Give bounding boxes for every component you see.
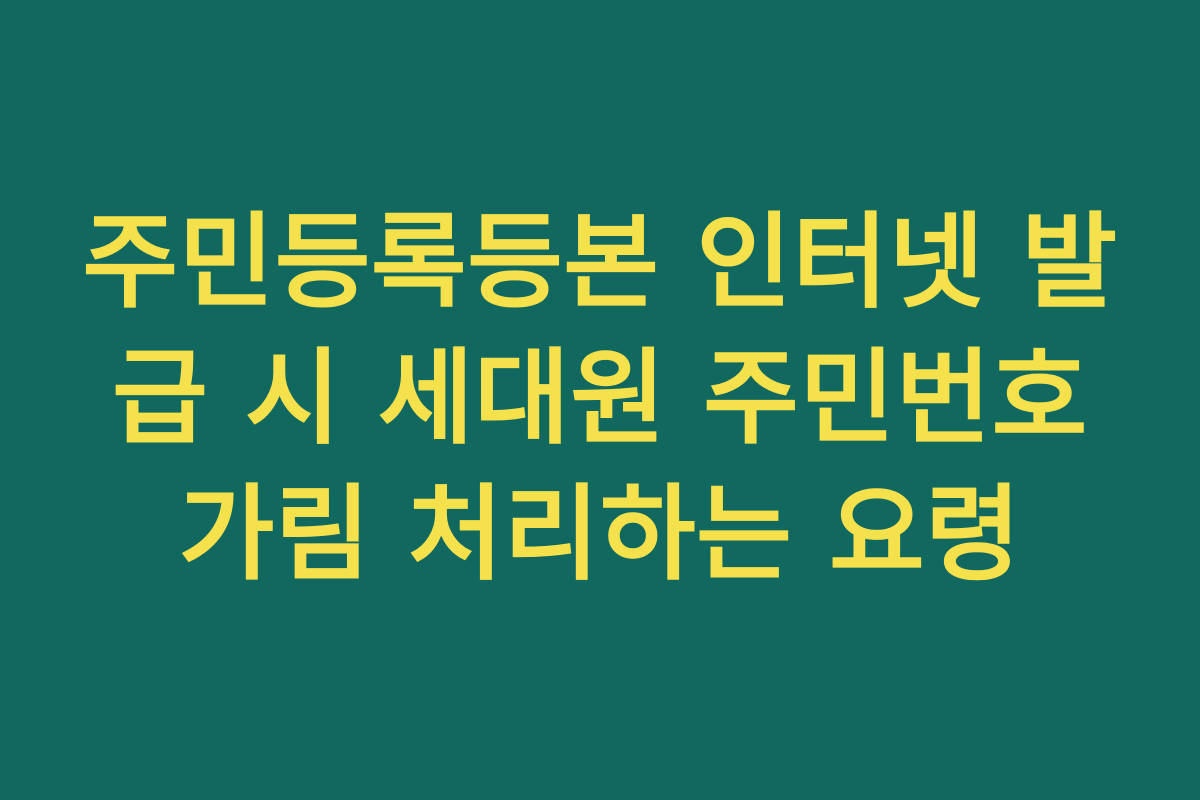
title-line-2: 급 시 세대원 주민번호 [112,330,1088,466]
title-line-1: 주민등록등본 인터넷 발 [82,194,1117,330]
thumbnail-card: 주민등록등본 인터넷 발 급 시 세대원 주민번호 가림 처리하는 요령 [0,0,1200,800]
title-block: 주민등록등본 인터넷 발 급 시 세대원 주민번호 가림 처리하는 요령 [70,194,1130,602]
title-line-3: 가림 처리하는 요령 [179,466,1022,602]
